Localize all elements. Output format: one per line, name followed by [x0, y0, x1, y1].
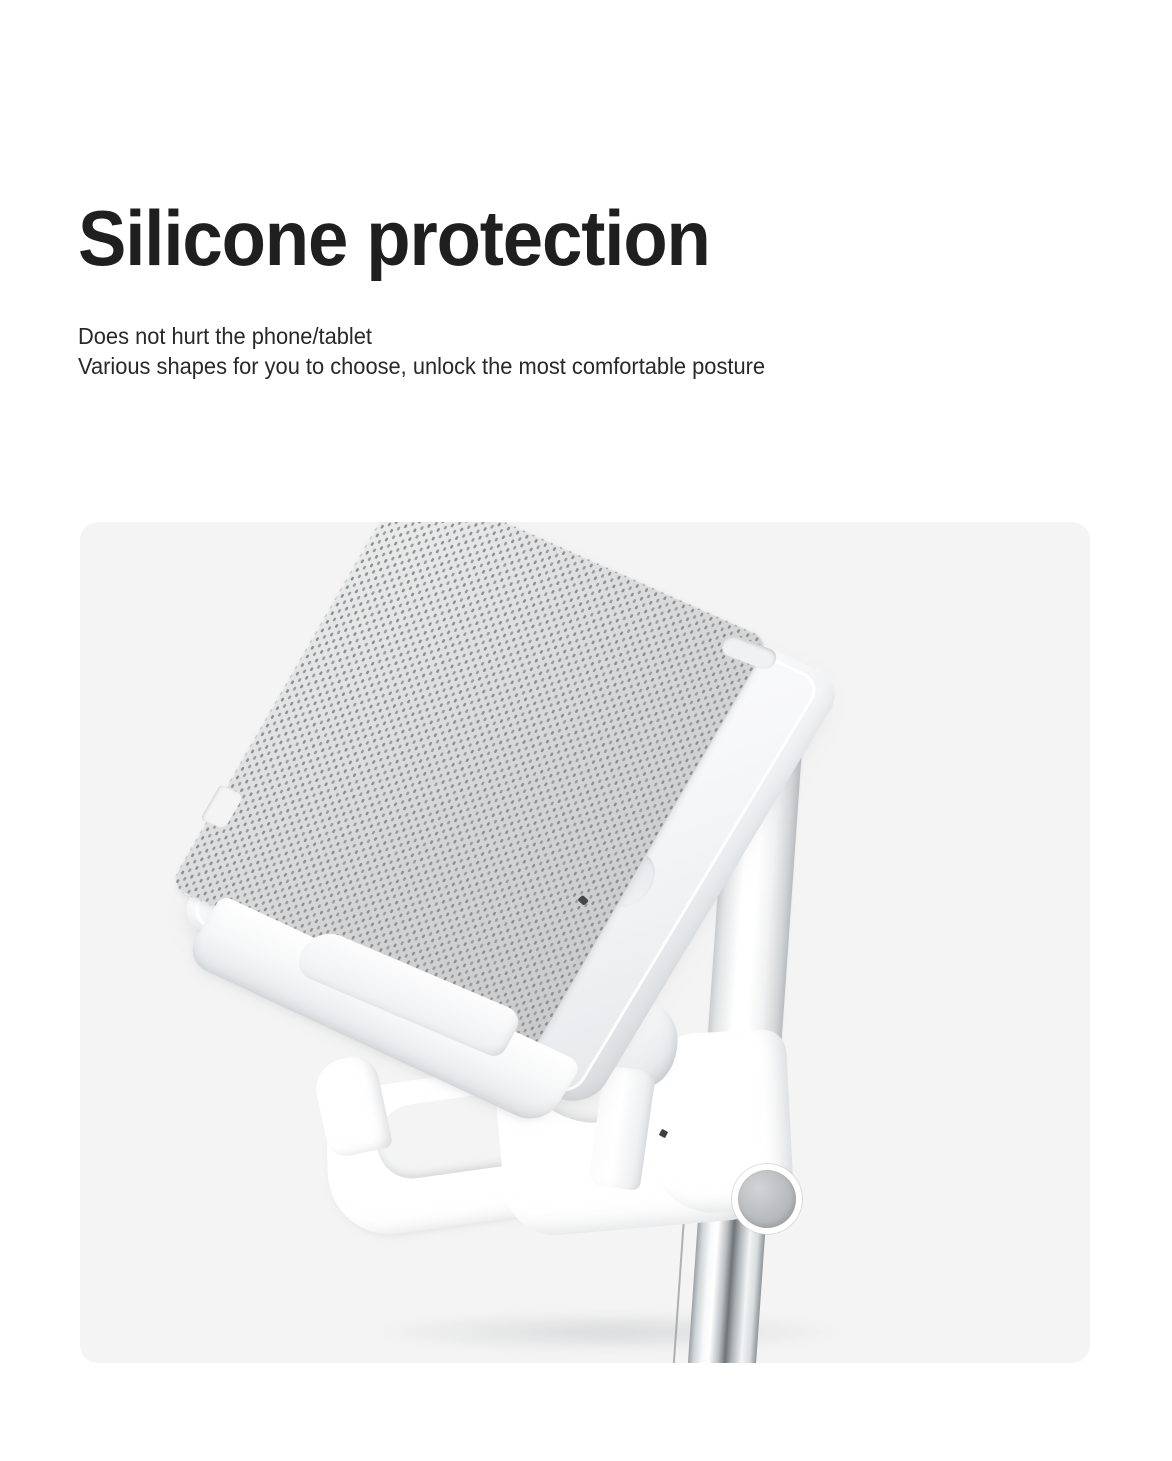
subtitle-line-1: Does not hurt the phone/tablet — [78, 322, 1038, 352]
subtitle-block: Does not hurt the phone/tablet Various s… — [78, 322, 1038, 382]
headline-block: Silicone protection Does not hurt the ph… — [78, 200, 1088, 382]
pivot-knob — [738, 1170, 796, 1228]
subtitle-line-2: Various shapes for you to choose, unlock… — [78, 352, 1038, 382]
product-image-panel — [80, 522, 1090, 1363]
page-title: Silicone protection — [78, 200, 1017, 276]
product-stand-illustration — [80, 522, 1090, 1363]
